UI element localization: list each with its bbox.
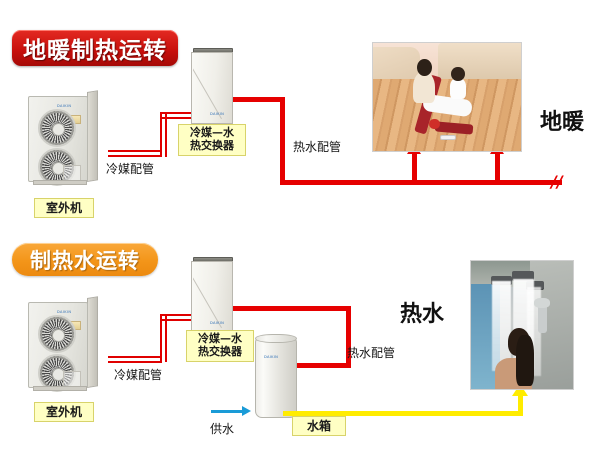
photo-child-head bbox=[451, 67, 464, 81]
hydrobox-panel-line bbox=[193, 60, 233, 130]
hot-water-pipe-floor-main bbox=[280, 180, 562, 185]
refrigerant-pipe-upper-b bbox=[160, 117, 194, 119]
outdoor-unit-top: DAIKIN bbox=[28, 92, 100, 188]
hot-water-outlet-pipe-horizontal bbox=[283, 411, 523, 416]
photo-handheld-shower-head bbox=[534, 298, 549, 308]
photo-floor-heating bbox=[372, 42, 522, 152]
outdoor-unit-access-panel bbox=[63, 371, 81, 387]
daikin-logo-icon: DAIKIN bbox=[57, 104, 71, 108]
photo-remote-control bbox=[440, 135, 456, 140]
pipe-break-mark-icon: // bbox=[551, 174, 563, 190]
hot-water-pipe-bottom-top bbox=[233, 306, 351, 311]
hot-water-pipe-top-horizontal bbox=[233, 97, 285, 102]
outdoor-unit-base bbox=[33, 180, 87, 185]
refrigerant-pipe-riser-a bbox=[160, 314, 162, 362]
water-tank-unit: DAIKIN bbox=[255, 332, 297, 420]
water-tank-body: DAIKIN bbox=[255, 338, 297, 418]
outdoor-unit-body: DAIKIN bbox=[28, 96, 88, 182]
hot-water-branch-right bbox=[495, 152, 500, 182]
refrigerant-pipe-upper-a bbox=[160, 314, 194, 316]
section-title-hot-water: 制热水运转 bbox=[12, 243, 158, 276]
heat-exchanger-unit-bottom: DAIKIN bbox=[191, 255, 239, 339]
daikin-logo-icon: DAIKIN bbox=[264, 355, 278, 359]
callout-outdoor-unit-bottom: 室外机 bbox=[34, 402, 94, 422]
hydrobox-body: DAIKIN bbox=[191, 52, 233, 124]
refrigerant-pipe-lower-b bbox=[108, 361, 162, 363]
outdoor-unit-base bbox=[33, 386, 87, 391]
refrigerant-pipe-riser-b bbox=[165, 314, 167, 362]
fan-icon bbox=[38, 315, 76, 353]
hot-water-pipe-to-tank bbox=[295, 363, 351, 368]
label-hot-water-pipe-top: 热水配管 bbox=[293, 138, 341, 155]
hot-water-outlet-pipe-riser bbox=[518, 394, 523, 416]
label-hot-water-pipe-bottom: 热水配管 bbox=[347, 344, 395, 361]
daikin-logo-icon: DAIKIN bbox=[210, 112, 224, 116]
water-tank-top bbox=[255, 334, 297, 343]
water-supply-line bbox=[211, 410, 243, 413]
label-refrigerant-pipe-bottom: 冷媒配管 bbox=[114, 366, 162, 383]
refrigerant-pipe-lower-a bbox=[108, 356, 162, 358]
hydrobox-panel-line bbox=[193, 269, 233, 339]
outdoor-unit-side-panel bbox=[87, 296, 98, 388]
daikin-logo-icon: DAIKIN bbox=[210, 321, 224, 325]
label-refrigerant-pipe-top: 冷媒配管 bbox=[106, 160, 154, 177]
photo-wooden-floor bbox=[373, 79, 521, 151]
label-water-supply: 供水 bbox=[210, 420, 234, 437]
section-title-floor-heating: 地暖制热运转 bbox=[12, 30, 178, 66]
photo-red-ball bbox=[429, 119, 439, 130]
photo-shower bbox=[470, 260, 574, 390]
hot-water-pipe-vertical-drop bbox=[280, 97, 285, 185]
outdoor-unit-side-panel bbox=[87, 90, 98, 182]
heat-exchanger-unit-top: DAIKIN bbox=[191, 46, 239, 130]
refrigerant-pipe-lower-b bbox=[108, 155, 162, 157]
hot-water-branch-left bbox=[412, 152, 417, 182]
arrow-right-icon bbox=[242, 406, 251, 416]
photo-child-body bbox=[450, 78, 466, 100]
callout-water-tank: 水箱 bbox=[292, 416, 346, 436]
photo-person-hair bbox=[516, 335, 534, 386]
fan-icon bbox=[38, 109, 76, 147]
outdoor-unit-bottom: DAIKIN bbox=[28, 298, 100, 394]
daikin-logo-icon: DAIKIN bbox=[57, 310, 71, 314]
callout-outdoor-unit-top: 室外机 bbox=[34, 198, 94, 218]
refrigerant-pipe-upper-b bbox=[160, 319, 194, 321]
callout-heat-exchanger-bottom: 冷媒—水 热交换器 bbox=[186, 330, 254, 362]
outdoor-unit-access-panel bbox=[63, 165, 81, 181]
label-result-floor-heating: 地暖 bbox=[540, 104, 584, 136]
hydrobox-body: DAIKIN bbox=[191, 261, 233, 333]
label-result-hot-water: 热水 bbox=[400, 296, 444, 328]
refrigerant-pipe-lower-a bbox=[108, 150, 162, 152]
refrigerant-pipe-upper-a bbox=[160, 112, 194, 114]
callout-heat-exchanger-top: 冷媒—水 热交换器 bbox=[178, 124, 246, 156]
diagram-canvas: 地暖制热运转 DAIKIN 室外机 冷媒配管 DAIKIN 冷媒—水 热交换器 bbox=[0, 0, 600, 449]
outdoor-unit-body: DAIKIN bbox=[28, 302, 88, 388]
